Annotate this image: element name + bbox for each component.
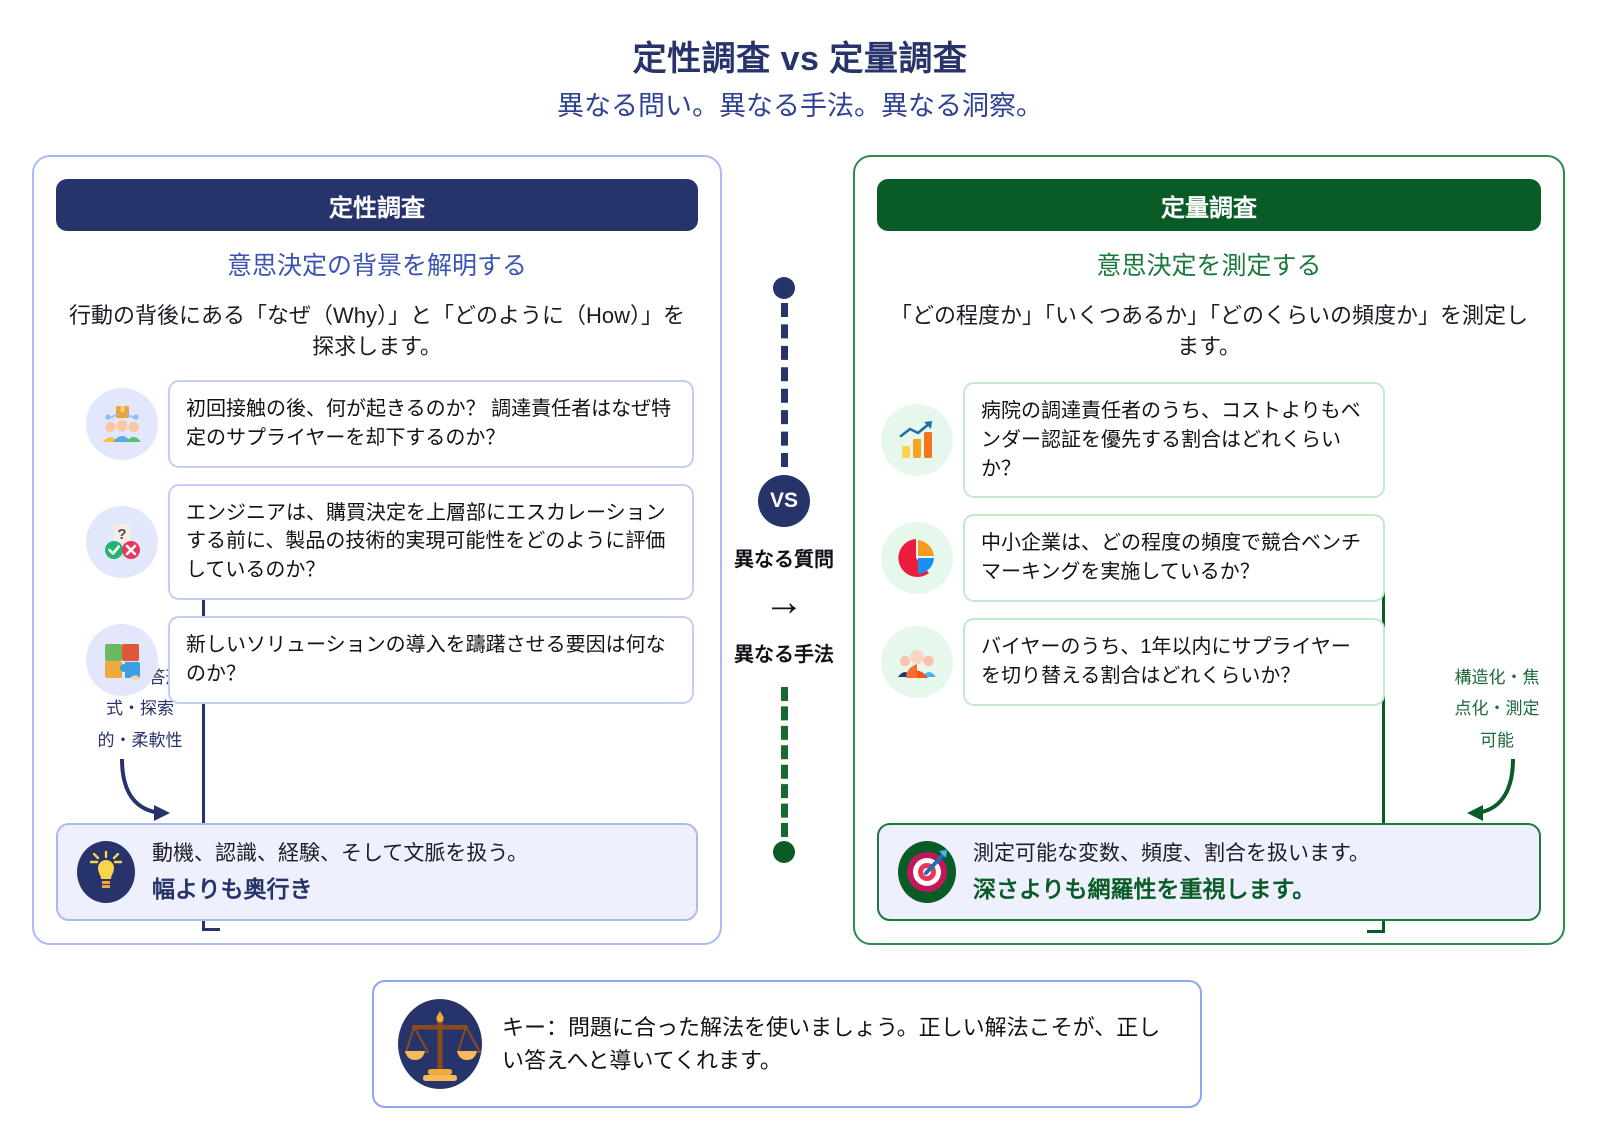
quantitative-callout-line1: 測定可能な変数、頻度、割合を扱います。 — [973, 839, 1521, 868]
bar-chart-growth-icon — [881, 404, 953, 476]
divider-dashed-line-bottom — [781, 687, 788, 837]
list-item: 初回接触の後、何が起きるのか？ 調達責任者はなぜ特定のサプライヤーを却下するのか… — [86, 380, 694, 468]
quantitative-curved-arrow-icon — [1449, 755, 1525, 829]
quantitative-heading: 定量調査 — [877, 179, 1541, 231]
divider-top-dot — [773, 277, 795, 299]
puzzle-piece-icon — [86, 624, 158, 696]
key-takeaway-box: キー：問題に合った解法を使いましょう。正しい解法こそが、正しい答えへと導いてくれ… — [372, 980, 1202, 1108]
lightbulb-icon — [76, 840, 136, 904]
right-arrow-icon: → — [764, 582, 804, 622]
qualitative-card-list: 初回接触の後、何が起きるのか？ 調達責任者はなぜ特定のサプライヤーを却下するのか… — [86, 380, 694, 704]
divider-dashed-line-top — [781, 303, 788, 467]
balance-scale-icon — [396, 998, 484, 1090]
list-item: ? エンジニアは、購買決定を上層部にエスカレーションする前に、製品の技術的実現可… — [86, 484, 694, 600]
list-item-text: 初回接触の後、何が起きるのか？ 調達責任者はなぜ特定のサプライヤーを却下するのか… — [168, 380, 694, 468]
user-research-icon — [86, 388, 158, 460]
people-group-icon — [881, 626, 953, 698]
list-item: 新しいソリューションの導入を躊躇させる要因は何なのか？ — [86, 616, 694, 704]
qualitative-tagline: 意思決定の背景を解明する — [34, 250, 720, 283]
quantitative-side-label: 構造化・焦点化・測定可能 — [1449, 662, 1545, 756]
page-header: 定性調査 vs 定量調査 異なる問い。異なる手法。異なる洞察。 — [0, 0, 1600, 124]
quantitative-callout: 測定可能な変数、頻度、割合を扱います。 深さよりも網羅性を重視します。 — [877, 823, 1541, 921]
list-item: 中小企業は、どの程度の頻度で競合ベンチマーキングを実施しているか？ — [881, 514, 1385, 602]
target-dart-icon — [897, 840, 957, 904]
infographic-root: 定性調査 vs 定量調査 異なる問い。異なる手法。異なる洞察。 定性調査 意思決… — [0, 0, 1600, 1132]
pie-chart-icon — [881, 522, 953, 594]
qualitative-callout-line1: 動機、認識、経験、そして文脈を扱う。 — [152, 839, 678, 868]
key-takeaway-text: キー：問題に合った解法を使いましょう。正しい解法こそが、正しい答えへと導いてくれ… — [502, 1011, 1178, 1077]
qualitative-callout-line2: 幅よりも奥行き — [152, 874, 678, 905]
list-item-text: バイヤーのうち、1年以内にサプライヤーを切り替える割合はどれくらいか？ — [963, 618, 1385, 706]
page-title: 定性調査 vs 定量調査 — [0, 38, 1600, 81]
quantitative-tagline: 意思決定を測定する — [855, 250, 1563, 283]
decision-question-icon: ? — [86, 506, 158, 578]
qualitative-heading: 定性調査 — [56, 179, 698, 231]
svg-text:?: ? — [117, 526, 126, 543]
quantitative-panel: 定量調査 意思決定を測定する 「どの程度か」「いくつあるか」「どのくらいの頻度か… — [853, 155, 1565, 945]
vs-divider: VS 異なる質問 → 異なる手法 — [722, 155, 846, 945]
list-item: バイヤーのうち、1年以内にサプライヤーを切り替える割合はどれくらいか？ — [881, 618, 1385, 706]
list-item: 病院の調達責任者のうち、コストよりもベンダー認証を優先する割合はどれくらいか？ — [881, 382, 1385, 498]
qualitative-callout: 動機、認識、経験、そして文脈を扱う。 幅よりも奥行き — [56, 823, 698, 921]
list-item-text: 中小企業は、どの程度の頻度で競合ベンチマーキングを実施しているか？ — [963, 514, 1385, 602]
page-subtitle: 異なる問い。異なる手法。異なる洞察。 — [0, 89, 1600, 124]
qualitative-curved-arrow-icon — [112, 755, 188, 829]
divider-label-questions: 異なる質問 — [734, 543, 834, 572]
quantitative-card-list: 病院の調達責任者のうち、コストよりもベンダー認証を優先する割合はどれくらいか？ … — [881, 382, 1385, 706]
quantitative-description: 「どの程度か」「いくつあるか」「どのくらいの頻度か」を測定します。 — [889, 300, 1529, 362]
qualitative-description: 行動の背後にある「なぜ（Why）」と「どのように（How）」を探求します。 — [68, 300, 686, 362]
divider-label-methods: 異なる手法 — [734, 638, 834, 667]
vs-badge: VS — [758, 475, 810, 527]
list-item-text: 新しいソリューションの導入を躊躇させる要因は何なのか？ — [168, 616, 694, 704]
divider-bottom-dot — [773, 841, 795, 863]
list-item-text: 病院の調達責任者のうち、コストよりもベンダー認証を優先する割合はどれくらいか？ — [963, 382, 1385, 498]
quantitative-callout-line2: 深さよりも網羅性を重視します。 — [973, 874, 1521, 905]
qualitative-panel: 定性調査 意思決定の背景を解明する 行動の背後にある「なぜ（Why）」と「どのよ… — [32, 155, 722, 945]
list-item-text: エンジニアは、購買決定を上層部にエスカレーションする前に、製品の技術的実現可能性… — [168, 484, 694, 600]
